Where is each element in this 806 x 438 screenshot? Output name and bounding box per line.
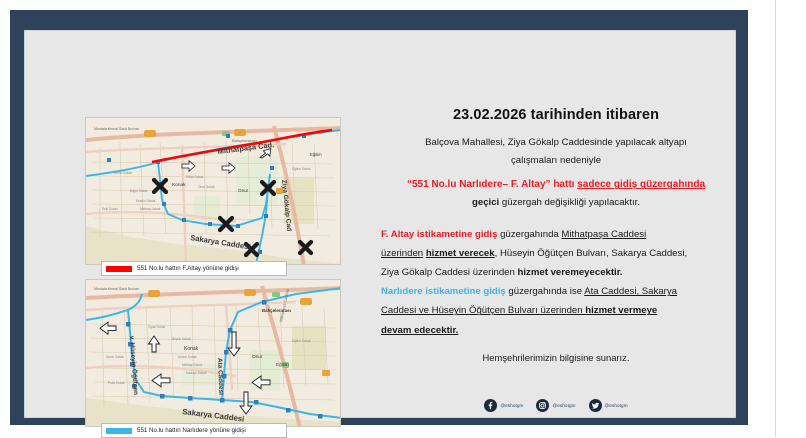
svg-text:Polis Sokak: Polis Sokak [108, 381, 125, 385]
announcement-line-2: çalışmaları nedeniyle [381, 152, 731, 170]
svg-text:Mustafa Kemal Sahil Bulvarı: Mustafa Kemal Sahil Bulvarı [94, 127, 139, 131]
announcement-temporary-note: geçici güzergah değişikliği yapılacaktır… [381, 194, 731, 212]
svg-text:Onur: Onur [238, 188, 249, 193]
svg-text:Eğitim Sokak: Eğitim Sokak [292, 339, 311, 343]
svg-text:Kadriye Sokak: Kadriye Sokak [186, 371, 207, 375]
legend-swatch-blue [106, 428, 132, 434]
svg-text:Eğitim: Eğitim [276, 362, 289, 367]
svg-text:Eğitim: Eğitim [310, 152, 322, 157]
svg-text:Konak: Konak [184, 346, 199, 352]
service-available-bold: hizmet verecek [426, 248, 495, 259]
page-right-margin [776, 0, 806, 437]
facebook-handle: @eshotgm [500, 403, 523, 408]
instagram-icon [536, 399, 549, 412]
narlidere-direction-label: Narlıdere istikametine gidiş [381, 286, 506, 297]
service-continues-bold-1: hizmet vermeye [585, 305, 657, 316]
route-name-text: “551 No.lu Narlıdere– F. Altay” hattı [407, 179, 577, 190]
svg-text:Büyük Sokak: Büyük Sokak [172, 337, 191, 341]
twitter-handle: @eshotgm [605, 403, 628, 408]
f-altay-direction-label: F. Altay istikametine gidiş [381, 229, 497, 240]
map-canvas-top: Mithatpaşa Cad. Sakarya Caddesi Ziya Gök… [86, 118, 340, 264]
announcement-paragraph-narlidere: Narlıdere istikametine gidiş güzergahınd… [381, 282, 731, 340]
f-altay-last-line: Ziya Gökalp Caddesi üzerinden [381, 267, 518, 278]
route-map-to-narlidere[interactable]: Sakarya Caddesi v. Hüseyin Öğütçen Ata C… [85, 279, 341, 427]
map-legend-f-altay: 551 No.lu hattın F.Altay yönüne gidişi [101, 261, 287, 276]
svg-text:Eğitim Sokak: Eğitim Sokak [292, 167, 311, 171]
narlidere-mid: güzergahında ise [506, 286, 584, 297]
map-canvas-bottom: Sakarya Caddesi v. Hüseyin Öğütçen Ata C… [86, 280, 340, 426]
svg-text:Kesire Sokak: Kesire Sokak [178, 355, 197, 359]
ata-sakarya-underlined: Ata Caddesi, Sakarya [584, 286, 677, 297]
announcement-paragraph-f-altay: F. Altay istikametine gidiş güzergahında… [381, 225, 731, 283]
announcement-route-headline: “551 No.lu Narlıdere– F. Altay” hattı sa… [381, 176, 731, 194]
service-continues-bold-2: devam edecektir. [381, 325, 458, 336]
svg-text:Mustafa Kemal Sahil Bulvarı: Mustafa Kemal Sahil Bulvarı [94, 287, 139, 291]
svg-text:Oyak Sokak: Oyak Sokak [148, 325, 166, 329]
announcement-closing: Hemşehrilerimizin bilgisine sunarız. [381, 352, 731, 363]
no-service-bold: hizmet veremeyecektir. [518, 267, 623, 278]
social-link-twitter[interactable]: @eshotgm [589, 399, 628, 412]
announcement-text-column: 23.02.2026 tarihinden itibaren Balçova M… [381, 107, 731, 419]
svg-text:Mehtap Sokak: Mehtap Sokak [140, 207, 161, 211]
svg-text:Konak: Konak [172, 182, 186, 188]
svg-text:Bahçelerarası: Bahçelerarası [232, 138, 257, 143]
route-map-to-f-altay[interactable]: Mithatpaşa Cad. Sakarya Caddesi Ziya Gök… [85, 117, 341, 265]
svg-text:Onur: Onur [252, 354, 263, 360]
legend-label-narlidere: 551 No.lu hattın Narlıdere yönüne gidişi [137, 427, 246, 434]
announcement-date: 23.02.2026 tarihinden itibaren [381, 107, 731, 123]
temporary-rest: güzergah değişikliği yapılacaktır. [499, 197, 640, 208]
poster-frame: İZMİR BÜYÜKŞEHİR BELEDİYESİ DUYURU [10, 10, 748, 425]
map-legend-narlidere: 551 No.lu hattın Narlıdere yönüne gidişi [101, 423, 287, 438]
svg-text:Dikici Sokak: Dikici Sokak [186, 175, 204, 179]
svg-text:Deniz Sokak: Deniz Sokak [106, 355, 124, 359]
f-altay-uzerinden: üzerinden [381, 248, 423, 259]
route-direction-underlined: sadece gidiş güzergahında [577, 179, 705, 190]
f-altay-mid: güzergahında [497, 229, 561, 240]
svg-text:Bahçelerarası: Bahçelerarası [262, 308, 291, 313]
screenshot-stage: İZMİR BÜYÜKŞEHİR BELEDİYESİ DUYURU [0, 0, 806, 437]
facebook-icon [484, 399, 497, 412]
mithatpasa-street-underlined: Mithatpaşa Caddesi [561, 229, 646, 240]
twitter-icon [589, 399, 602, 412]
announcement-card: Mithatpaşa Cad. Sakarya Caddesi Ziya Gök… [24, 30, 736, 418]
temporary-bold: geçici [472, 197, 499, 208]
svg-text:Deniz Sokak: Deniz Sokak [114, 171, 132, 175]
svg-text:Bilgin Sokak: Bilgin Sokak [130, 189, 148, 193]
instagram-handle: @eshotgm [552, 403, 575, 408]
svg-text:Onur Sokak: Onur Sokak [198, 185, 215, 189]
narlidere-streets-underlined: Caddesi ve Hüseyin Öğütçen Bulvarı üzeri… [381, 305, 585, 316]
announcement-line-1: Balçova Mahallesi, Ziya Gökalp Caddesind… [381, 134, 731, 152]
svg-text:Ata Caddesi: Ata Caddesi [216, 358, 224, 395]
social-link-instagram[interactable]: @eshotgm [536, 399, 575, 412]
svg-text:Eski Sokak: Eski Sokak [102, 207, 118, 211]
legend-label-f-altay: 551 No.lu hattın F.Altay yönüne gidişi [137, 265, 239, 272]
social-link-facebook[interactable]: @eshotgm [484, 399, 523, 412]
f-altay-streets-tail: , Hüseyin Öğütçen Bulvarı, Sakarya Cadde… [495, 248, 688, 259]
legend-swatch-red [106, 266, 132, 272]
svg-text:Mehtap Sokak: Mehtap Sokak [182, 363, 203, 367]
maps-column: Mithatpaşa Cad. Sakarya Caddesi Ziya Gök… [39, 103, 369, 417]
svg-text:Keskin Sokak: Keskin Sokak [136, 199, 156, 203]
social-links-row: @eshotgm @eshotgm [381, 399, 731, 412]
